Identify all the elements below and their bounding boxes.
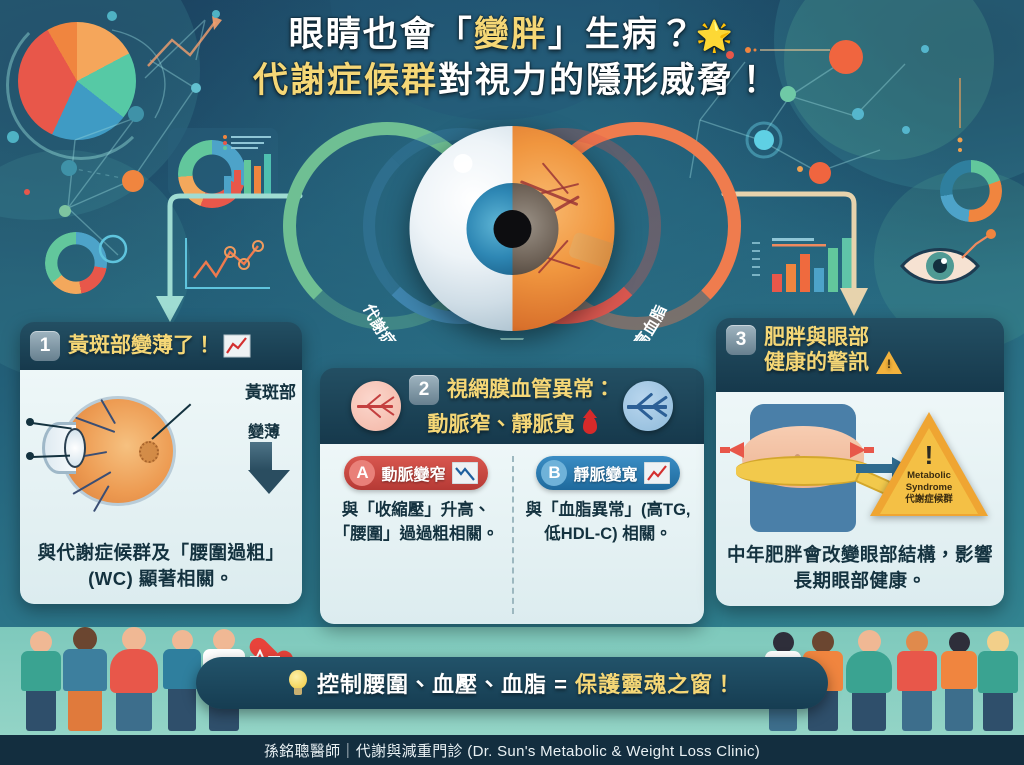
title-line2-part-b: 對視力的隱形威脅！ [438, 61, 771, 100]
retina-vein-icon [623, 381, 673, 431]
card3-title-row2: 健康的警訊 ! [764, 350, 902, 375]
title-line-2: 代謝症候群對視力的隱形威脅！ [0, 58, 1024, 104]
infographic-canvas: 眼睛也會「變胖」生病？🌟 代謝症候群對視力的隱形威脅！ [0, 0, 1024, 765]
vein-pill[interactable]: B 靜脈變寬 [536, 456, 679, 490]
footer-bar: 孫銘聰醫師｜代謝與減重門診 (Dr. Sun's Metabolic & Wei… [0, 735, 1024, 765]
warning-triangle-icon: ! [876, 351, 902, 374]
clinic-credit: 孫銘聰醫師｜代謝與減重門診 (Dr. Sun's Metabolic & Wei… [264, 740, 760, 761]
central-eye-visual: 代謝症候群 (MetS): 肥胖、高血壓、高血糖、高血脂 [277, 126, 747, 341]
person-left-1 [18, 631, 64, 731]
curved-caption-text: 代謝症候群 (MetS): 肥胖、高血壓、高血糖、高血脂 [359, 300, 671, 341]
card1-title: 黃斑部變薄了！ [68, 333, 215, 358]
title-line1-part-a: 眼睛也會「 [289, 15, 474, 54]
card3-title-line1: 肥胖與眼部 [764, 325, 902, 350]
sign-line-1: Metabolic [870, 470, 988, 482]
artery-caption: 與「收縮壓」升高、「腰圍」過過粗相關。 [330, 499, 502, 547]
card2-title-line1: 視網膜血管異常： [447, 377, 615, 402]
card2-title-row-1: 2 視網膜血管異常： [409, 375, 615, 405]
sign-line-3: 代謝症候群 [870, 494, 988, 506]
metabolic-syndrome-warning-sign: ! Metabolic Syndrome 代謝症候群 [870, 412, 988, 516]
chart-up-icon [644, 462, 670, 484]
vein-caption: 與「血脂異常」(高TG, 低HDL-C) 相關。 [522, 499, 694, 547]
retina-artery-icon [351, 381, 401, 431]
person-left-3 [108, 627, 160, 731]
page-title: 眼睛也會「變胖」生病？🌟 代謝症候群對視力的隱形威脅！ [0, 12, 1024, 104]
macula-region [139, 441, 159, 463]
card2-number-badge: 2 [409, 375, 439, 405]
card2-body: A 動脈變窄 與「收縮壓」升高、「腰圍」過過粗相關。 B 靜脈變寬 [320, 444, 704, 624]
card3-title-line2: 健康的警訊 [764, 350, 869, 375]
card1-body: 黃斑部 變薄 與代謝症候群及「腰圍過粗」(WC) 顯著相關。 [20, 370, 302, 604]
card-obesity-eye-warning[interactable]: 3 肥胖與眼部 健康的警訊 ! [716, 318, 1004, 606]
sign-line-2: Syndrome [870, 482, 988, 494]
card2-title-row-2: 動脈窄、靜脈寬 [428, 412, 597, 437]
card-macular-thinning[interactable]: 1 黃斑部變薄了！ [20, 322, 302, 604]
card2-title-line2: 動脈窄、靜脈寬 [428, 412, 575, 437]
card3-caption: 中年肥胖會改變眼部結構，影響長期眼部健康。 [726, 542, 994, 594]
title-line1-highlight: 變胖 [474, 15, 548, 54]
subcard-vein: B 靜脈變寬 與「血脂異常」(高TG, 低HDL-C) 相關。 [512, 444, 704, 624]
warning-sign-text: Metabolic Syndrome 代謝症候群 [870, 470, 988, 506]
label-thinning: 變薄 [248, 418, 280, 442]
card3-title-block: 肥胖與眼部 健康的警訊 ! [764, 325, 902, 375]
column-divider [512, 456, 514, 614]
card1-header: 1 黃斑部變薄了！ [20, 322, 302, 370]
curved-caption: 代謝症候群 (MetS): 肥胖、高血壓、高血糖、高血脂 [277, 126, 747, 341]
card2-header: 2 視網膜血管異常： 動脈窄、靜脈寬 [320, 368, 704, 444]
pill-letter-a: A [349, 460, 375, 486]
key-message-banner: 控制腰圍、血壓、血脂 = 保護靈魂之窗！ [196, 657, 828, 709]
arrow-head-right [840, 288, 868, 316]
pill-label-b: 靜脈變寬 [573, 461, 637, 485]
title-line-1: 眼睛也會「變胖」生病？🌟 [0, 12, 1024, 58]
decorative-legend-lines [222, 134, 274, 150]
blood-drop-icon [583, 416, 597, 434]
card1-number-badge: 1 [30, 331, 60, 361]
card-retinal-vessel-abnormality[interactable]: 2 視網膜血管異常： 動脈窄、靜脈寬 A 動 [320, 368, 704, 624]
artery-pill[interactable]: A 動脈變窄 [344, 456, 487, 490]
pill-letter-b: B [541, 460, 567, 486]
exclamation-mark: ! [925, 442, 934, 468]
banner-text: 控制腰圍、血壓、血脂 = 保護靈魂之窗！ [317, 667, 736, 699]
label-macula: 黃斑部 [245, 378, 296, 403]
person-right-4 [894, 631, 940, 731]
arrow-head-left [156, 296, 184, 322]
card1-caption: 與代謝症候群及「腰圍過粗」(WC) 顯著相關。 [30, 540, 292, 592]
card3-body: ! Metabolic Syndrome 代謝症候群 中年肥胖會改變眼部結構，影… [716, 392, 1004, 606]
person-right-3 [844, 630, 894, 731]
person-right-5 [938, 632, 980, 731]
subcard-artery: A 動脈變窄 與「收縮壓」升高、「腰圍」過過粗相關。 [320, 444, 512, 624]
down-arrow-icon [248, 442, 274, 494]
chart-up-icon [223, 334, 251, 358]
star-icon: 🌟 [696, 20, 735, 53]
banner-text-a: 控制腰圍、血壓、血脂 = [317, 672, 575, 697]
chart-down-icon [452, 462, 478, 484]
card2-title-block: 2 視網膜血管異常： 動脈窄、靜脈寬 [409, 375, 615, 437]
pill-label-a: 動脈變窄 [381, 461, 445, 485]
lightbulb-icon [288, 670, 308, 696]
card3-header: 3 肥胖與眼部 健康的警訊 ! [716, 318, 1004, 392]
person-right-6 [976, 631, 1020, 731]
banner-text-highlight: 保護靈魂之窗！ [575, 672, 736, 697]
title-line2-highlight: 代謝症候群 [253, 61, 438, 100]
title-line1-part-b: 」生病？ [548, 15, 696, 54]
eye-anatomy-diagram [42, 392, 192, 510]
person-left-2 [60, 627, 110, 731]
lens [64, 428, 86, 468]
card3-number-badge: 3 [726, 325, 756, 355]
